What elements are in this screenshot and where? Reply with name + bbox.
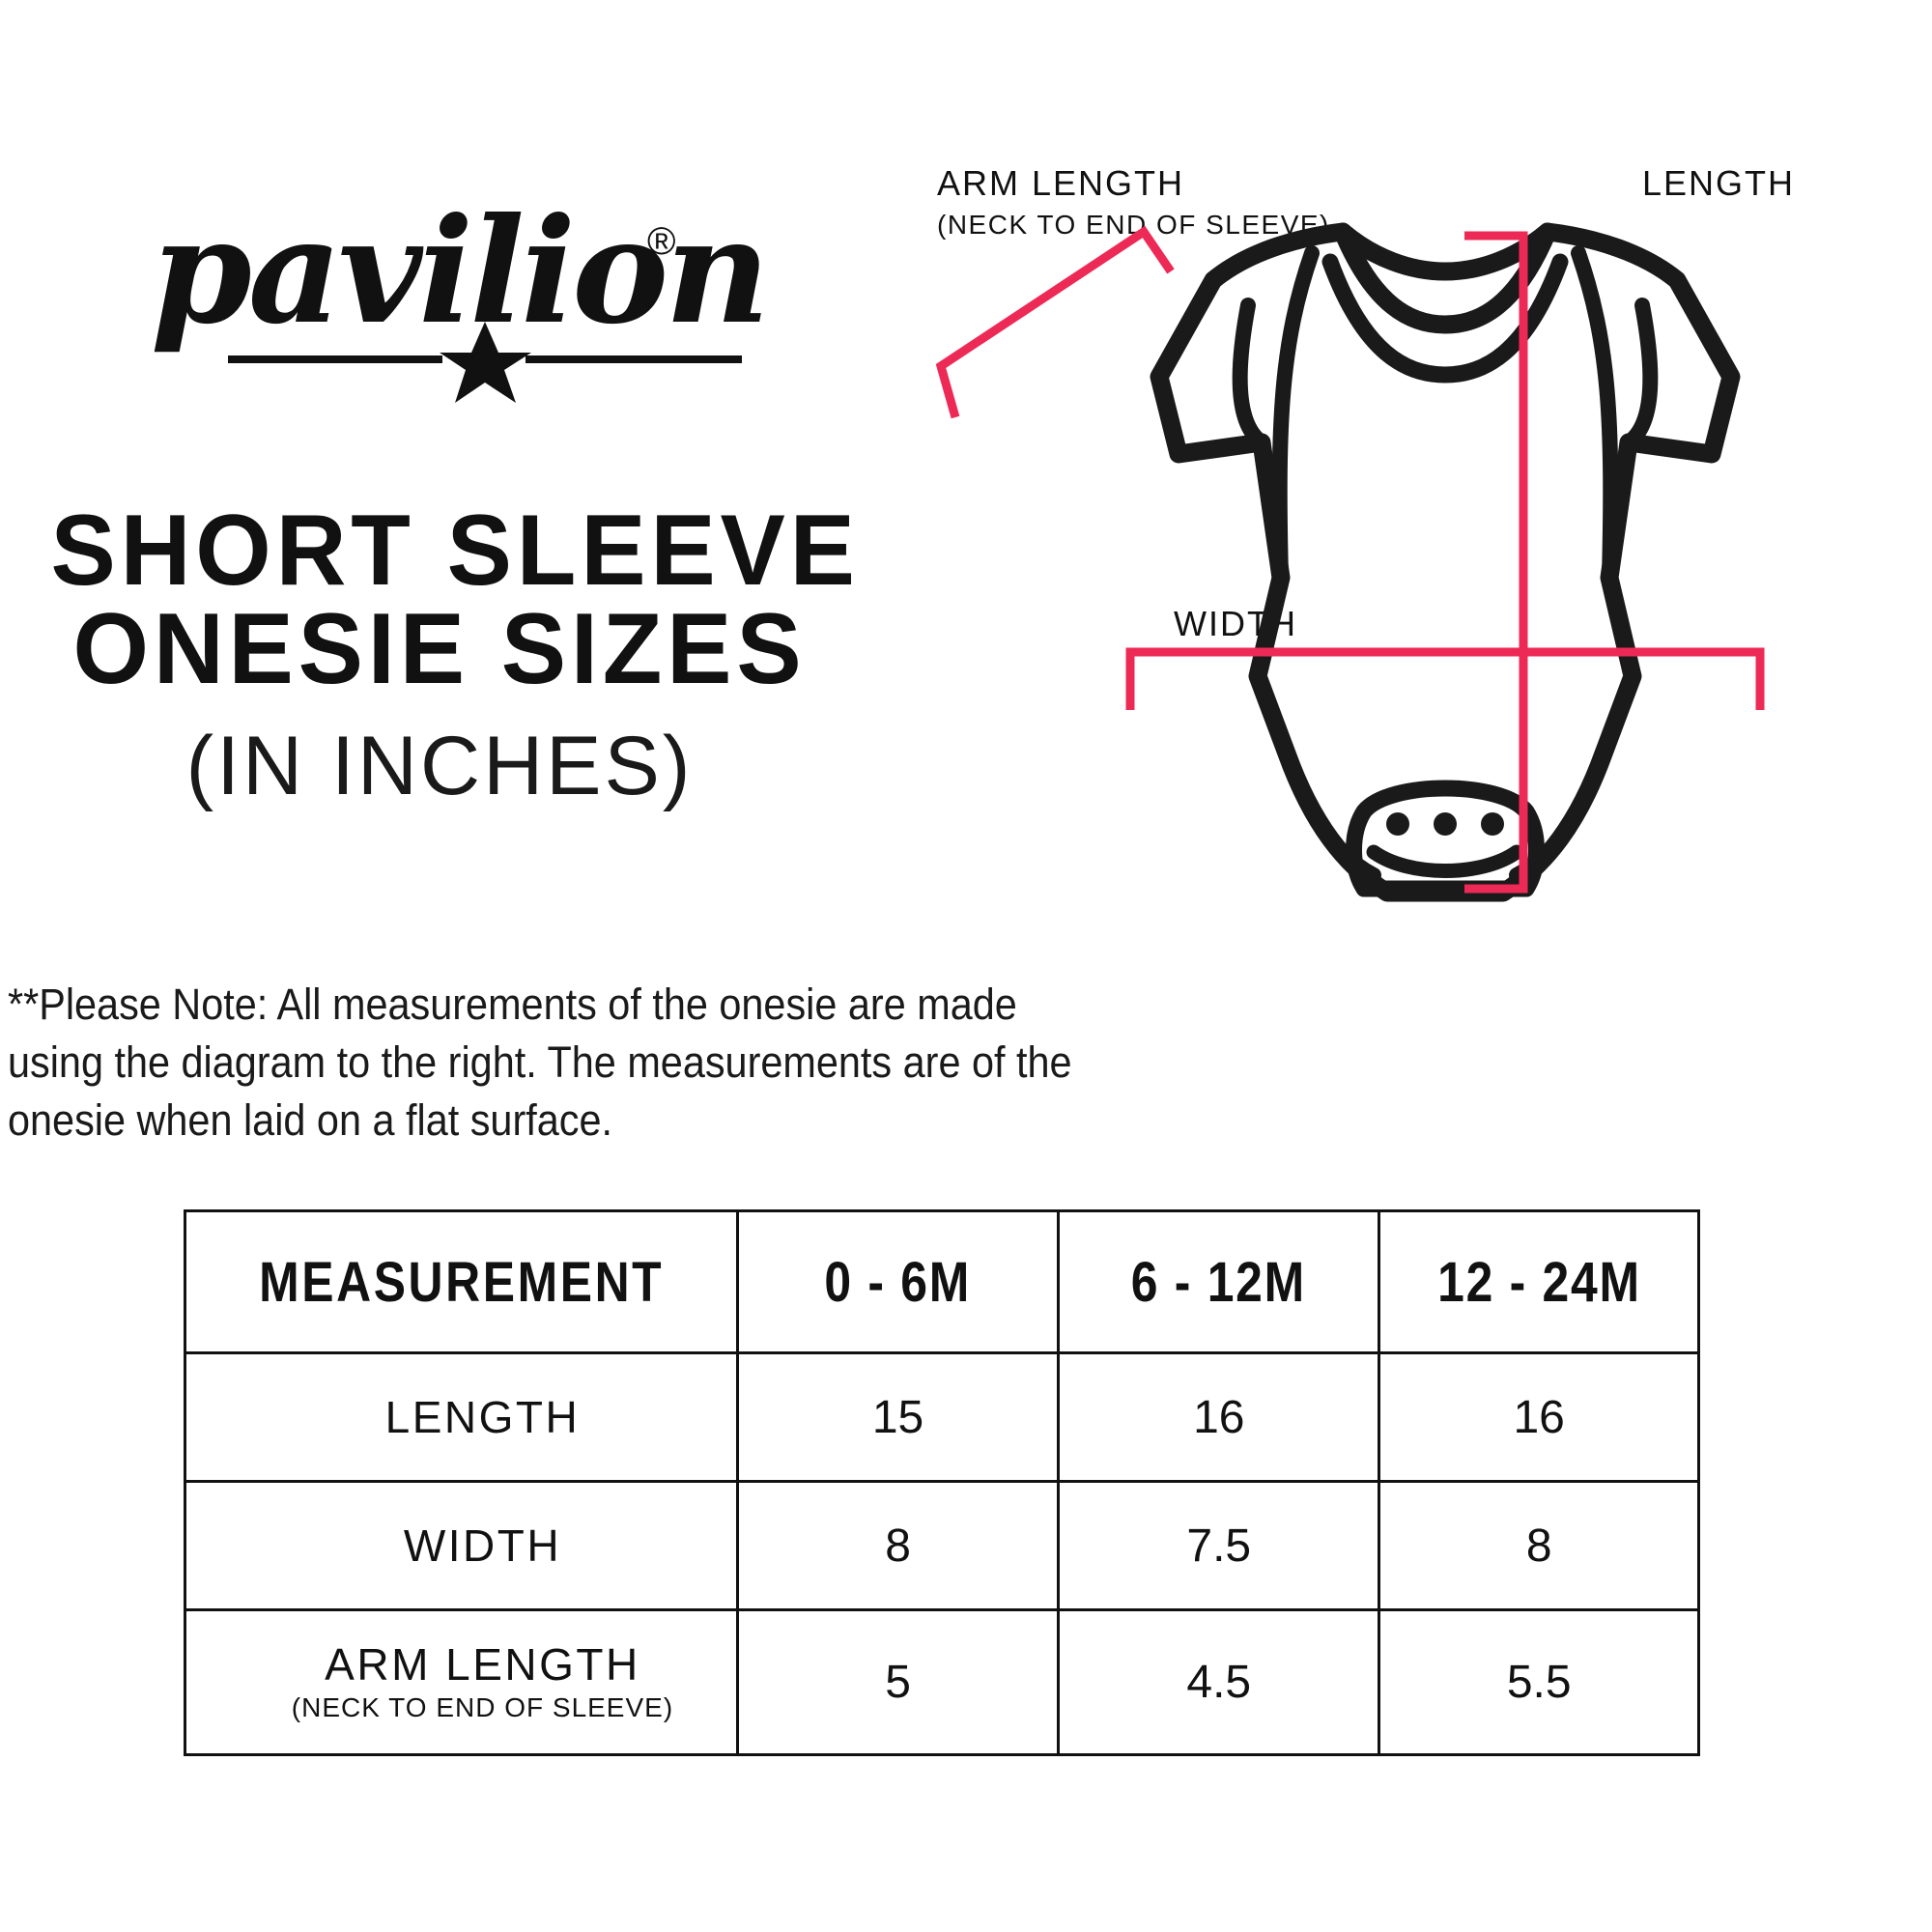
cell-value: 8 (1526, 1520, 1552, 1572)
cell-value: 8 (885, 1520, 911, 1572)
cell-value: 7.5 (1186, 1520, 1251, 1572)
size-chart-page: pavilion ® SHORT SLEEVE ONESIE SIZES (IN… (0, 0, 1932, 1932)
col-header-6-12m-label: 6 - 12M (1131, 1250, 1306, 1315)
table-header-row: MEASUREMENT 0 - 6M 6 - 12M 12 - 24M (185, 1211, 1699, 1353)
cell-arm-length-6-12m: 4.5 (1059, 1610, 1379, 1755)
please-note-text: **Please Note: All measurements of the o… (8, 976, 1167, 1150)
row-label-arm-length-text: ARM LENGTH (229, 1641, 736, 1688)
size-chart-table: MEASUREMENT 0 - 6M 6 - 12M 12 - 24M LENG… (184, 1209, 1700, 1756)
cell-value: 4.5 (1186, 1657, 1251, 1708)
cell-value: 15 (872, 1392, 923, 1443)
note-line-2: using the diagram to the right. The meas… (8, 1034, 1074, 1092)
cell-arm-length-12-24m: 5.5 (1379, 1610, 1699, 1755)
row-label-arm-length-subtext: (NECK TO END OF SLEEVE) (229, 1691, 736, 1724)
snap-dot-left (1386, 812, 1409, 836)
col-header-12-24m-label: 12 - 24M (1437, 1250, 1641, 1315)
length-label: LENGTH (1642, 163, 1795, 203)
onesie-diagram: ARM LENGTH (NECK TO END OF SLEEVE) LENGT… (927, 135, 1922, 937)
col-header-0-6m: 0 - 6M (737, 1211, 1058, 1353)
title-line-1: SHORT SLEEVE (50, 502, 828, 601)
col-header-0-6m-label: 0 - 6M (825, 1250, 972, 1315)
col-header-12-24m: 12 - 24M (1379, 1211, 1699, 1353)
cell-value: 5.5 (1507, 1657, 1572, 1708)
col-header-measurement: MEASUREMENT (185, 1211, 738, 1353)
cell-value: 16 (1193, 1392, 1244, 1443)
snap-dot-right (1481, 812, 1504, 836)
cell-width-12-24m: 8 (1379, 1482, 1699, 1610)
table-row: WIDTH 8 7.5 8 (185, 1482, 1699, 1610)
note-line-3: onesie when laid on a flat surface. (8, 1092, 1074, 1150)
row-label-length: LENGTH (185, 1353, 738, 1482)
row-label-width: WIDTH (185, 1482, 738, 1610)
cell-value: 5 (885, 1657, 911, 1708)
cell-width-0-6m: 8 (737, 1482, 1058, 1610)
cell-length-12-24m: 16 (1379, 1353, 1699, 1482)
cell-arm-length-0-6m: 5 (737, 1610, 1058, 1755)
col-header-measurement-label: MEASUREMENT (259, 1250, 664, 1315)
title-subtitle: (IN INCHES) (39, 723, 840, 810)
cell-length-0-6m: 15 (737, 1353, 1058, 1482)
cell-length-6-12m: 16 (1059, 1353, 1379, 1482)
snap-dot-center (1434, 812, 1457, 836)
width-guide-line (1130, 652, 1760, 710)
title-line-2: ONESIE SIZES (50, 601, 828, 699)
brand-logo: pavilion ® (145, 179, 840, 420)
registered-trademark-icon: ® (647, 220, 675, 263)
col-header-6-12m: 6 - 12M (1059, 1211, 1379, 1353)
table-row: LENGTH 15 16 16 (185, 1353, 1699, 1482)
row-label-length-text: LENGTH (229, 1394, 736, 1440)
page-title: SHORT SLEEVE ONESIE SIZES (IN INCHES) (39, 502, 840, 810)
brand-wordmark: pavilion (151, 186, 766, 356)
onesie-outline-icon (1159, 232, 1731, 893)
cell-width-6-12m: 7.5 (1059, 1482, 1379, 1610)
row-label-arm-length: ARM LENGTH (NECK TO END OF SLEEVE) (185, 1610, 738, 1755)
table-row: ARM LENGTH (NECK TO END OF SLEEVE) 5 4.5… (185, 1610, 1699, 1755)
note-line-1: **Please Note: All measurements of the o… (8, 976, 1074, 1034)
arm-length-label: ARM LENGTH (937, 163, 1184, 203)
logo-rule-right (526, 355, 742, 363)
arm-length-guide-line (941, 232, 1171, 417)
cell-value: 16 (1513, 1392, 1564, 1443)
logo-rule-left (228, 355, 442, 363)
row-label-width-text: WIDTH (229, 1522, 736, 1569)
